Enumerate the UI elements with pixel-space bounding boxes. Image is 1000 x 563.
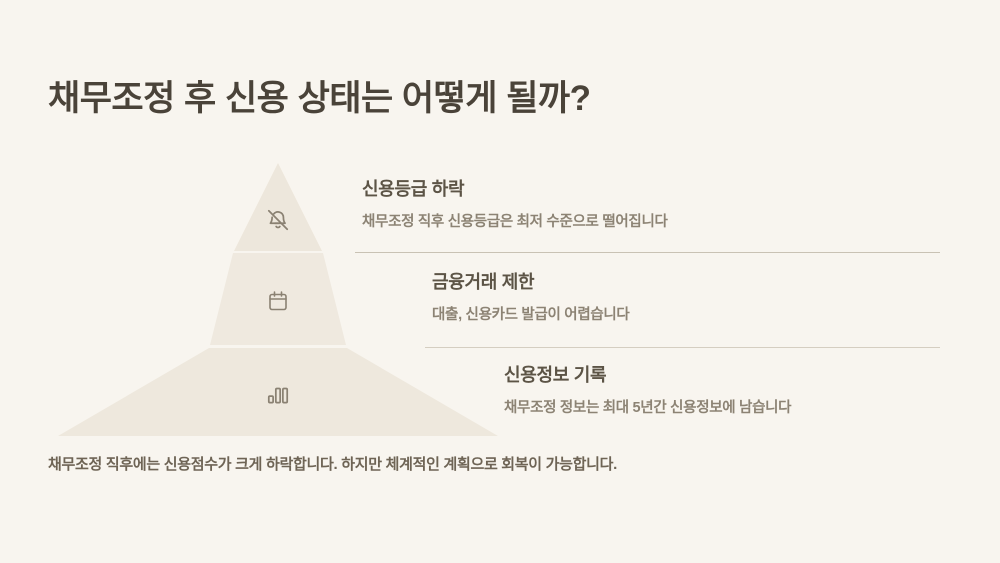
tier-1-text: 신용등급 하락 채무조정 직후 신용등급은 최저 수준으로 떨어집니다 (362, 175, 962, 231)
infographic-slide: 채무조정 후 신용 상태는 어떻게 될까? 신용등급 하락 채무조정 직후 신용… (0, 0, 1000, 563)
tier-1-description: 채무조정 직후 신용등급은 최저 수준으로 떨어집니다 (362, 210, 962, 231)
tier-2-heading: 금융거래 제한 (432, 268, 1000, 294)
bar-chart-icon (258, 375, 298, 415)
calendar-icon (258, 281, 298, 321)
tier-2-text: 금융거래 제한 대출, 신용카드 발급이 어렵습니다 (432, 268, 1000, 324)
tier-3-text: 신용정보 기록 채무조정 정보는 최대 5년간 신용정보에 남습니다 (504, 361, 1000, 417)
tier-3-description: 채무조정 정보는 최대 5년간 신용정보에 남습니다 (504, 396, 1000, 417)
tier-1-heading: 신용등급 하락 (362, 175, 962, 201)
tier-2-description: 대출, 신용카드 발급이 어렵습니다 (432, 303, 1000, 324)
tier-3-heading: 신용정보 기록 (504, 361, 1000, 387)
tier-divider-1 (355, 252, 940, 253)
footer-note: 채무조정 직후에는 신용점수가 크게 하락합니다. 하지만 체계적인 계획으로 … (48, 453, 617, 474)
page-title: 채무조정 후 신용 상태는 어떻게 될까? (48, 70, 591, 121)
tier-divider-2 (425, 347, 940, 348)
bell-off-icon (258, 200, 298, 240)
